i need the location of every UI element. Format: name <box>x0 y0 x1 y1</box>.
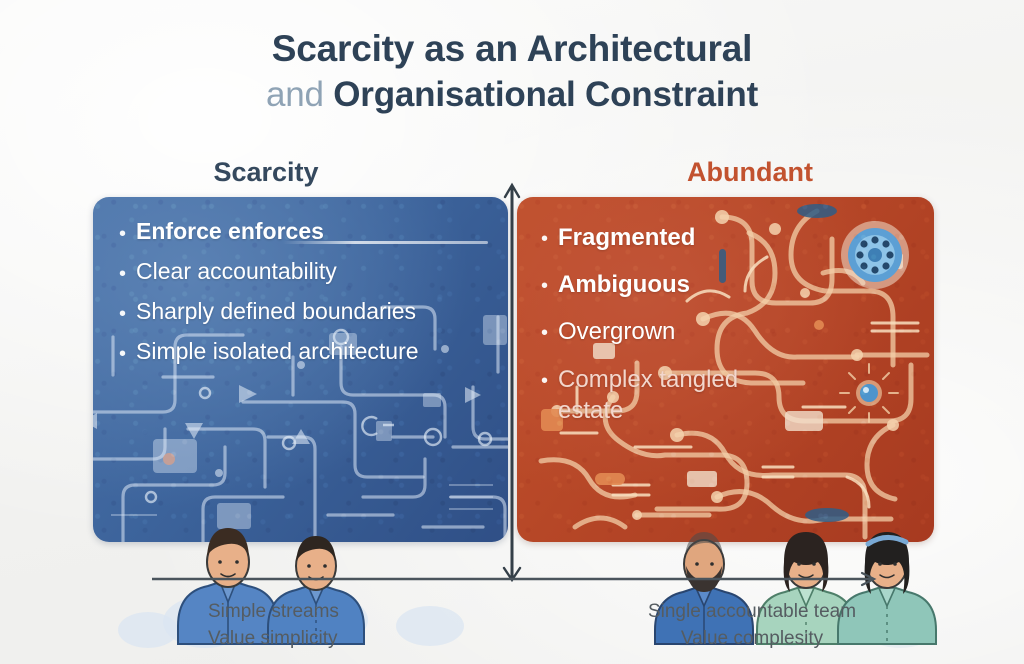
list-item: • Clear accountability <box>119 257 489 287</box>
list-item: • Ambiguous <box>541 269 756 300</box>
bullet-dot-icon: • <box>119 264 126 284</box>
list-item: • Sharply defined boundaries <box>119 297 489 327</box>
bullet-label: Ambiguous <box>558 269 690 300</box>
caption-abundant: Single accountable team Value complesity <box>582 599 922 653</box>
bullet-label: Clear accountability <box>136 257 337 287</box>
bullet-label: Complex tangled estate <box>558 364 756 426</box>
heading-underline-stroke <box>283 241 488 244</box>
title-line-2: and Organisational Constraint <box>0 73 1024 117</box>
column-heading-scarcity: Scarcity <box>96 157 436 188</box>
list-item: • Simple isolated architecture <box>119 337 489 367</box>
column-heading-abundant: Abundant <box>580 157 920 188</box>
bullet-dot-icon: • <box>541 371 548 391</box>
title-line-1: Scarcity as an Architectural <box>0 26 1024 73</box>
page-title: Scarcity as an Architectural and Organis… <box>0 26 1024 117</box>
caption-scarcity: Simple streams Value simplicity <box>208 599 339 653</box>
bullet-dot-icon: • <box>541 229 548 249</box>
list-item: • Fragmented <box>541 222 756 253</box>
bullet-dot-icon: • <box>541 323 548 343</box>
bullet-label: Fragmented <box>558 222 695 253</box>
bullet-label: Sharply defined boundaries <box>136 297 416 327</box>
caption-line-1: Simple streams <box>208 599 339 626</box>
list-item: • Complex tangled estate <box>541 364 756 426</box>
panel-scarcity: • Enforce enforces • Clear accountabilit… <box>93 197 508 542</box>
horizontal-baseline-arrow <box>152 573 874 585</box>
panel-abundant: • Fragmented • Ambiguous • Overgrown • C… <box>517 197 934 542</box>
blue-hub-gear <box>841 221 909 289</box>
caption-line-2: Value simplicity <box>208 626 339 653</box>
bullet-dot-icon: • <box>541 276 548 296</box>
caption-line-1: Single accountable team <box>582 599 922 626</box>
bullet-label: Overgrown <box>558 316 675 347</box>
bullet-dot-icon: • <box>119 304 126 324</box>
blue-node-eye <box>840 364 898 422</box>
bullet-dot-icon: • <box>119 224 126 244</box>
title-soft-word: and <box>266 75 333 114</box>
bullet-label: Simple isolated architecture <box>136 337 419 367</box>
bullet-dot-icon: • <box>119 344 126 364</box>
title-strong-word: Organisational Constraint <box>333 75 758 114</box>
caption-line-2: Value complesity <box>582 626 922 653</box>
infographic-stage: Scarcity as an Architectural and Organis… <box>0 0 1024 664</box>
bullet-list-abundant: • Fragmented • Ambiguous • Overgrown • C… <box>541 222 756 442</box>
list-item: • Overgrown <box>541 316 756 347</box>
